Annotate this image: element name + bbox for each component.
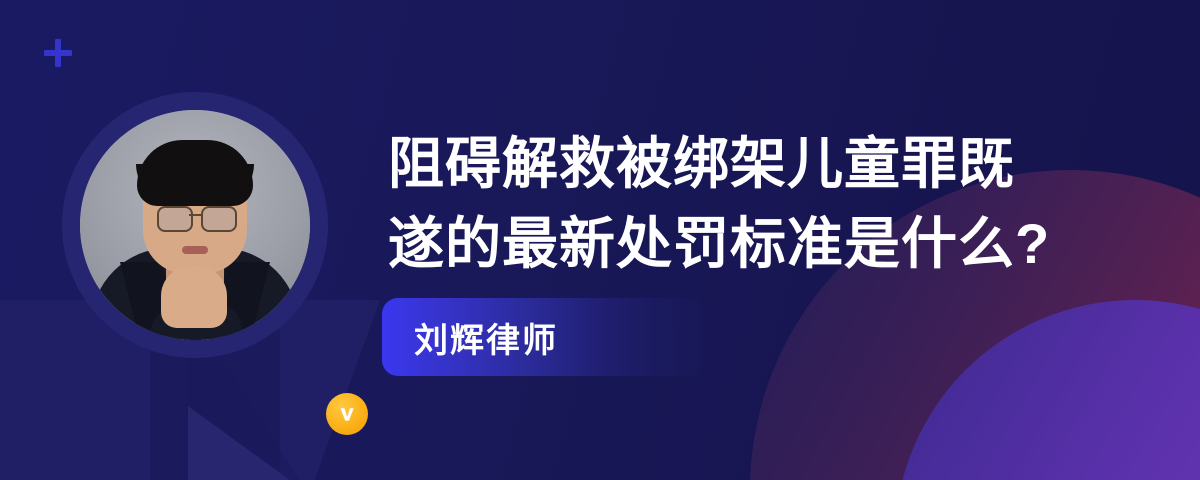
lawyer-name-badge: 刘辉律师 — [382, 298, 712, 376]
avatar-mouth — [182, 246, 208, 254]
plus-icon — [44, 39, 72, 67]
avatar-hair — [137, 140, 253, 206]
background-wedge-light — [188, 406, 298, 480]
page-title: 阻碍解救被绑架儿童罪既 遂的最新处罚标准是什么? — [388, 124, 1128, 284]
page-title-line-1: 阻碍解救被绑架儿童罪既 — [388, 124, 1128, 204]
verified-check-icon — [326, 393, 368, 435]
page-title-line-2: 遂的最新处罚标准是什么? — [388, 204, 1128, 284]
lawyer-question-banner: 阻碍解救被绑架儿童罪既 遂的最新处罚标准是什么? 刘辉律师 — [0, 0, 1200, 480]
avatar-hand — [161, 266, 227, 328]
lawyer-name-label: 刘辉律师 — [414, 313, 558, 362]
avatar-glasses-right — [201, 206, 237, 232]
avatar-photo — [80, 110, 310, 340]
avatar-glasses-bridge — [189, 214, 201, 216]
avatar-glasses-left — [157, 206, 193, 232]
avatar — [62, 92, 328, 358]
